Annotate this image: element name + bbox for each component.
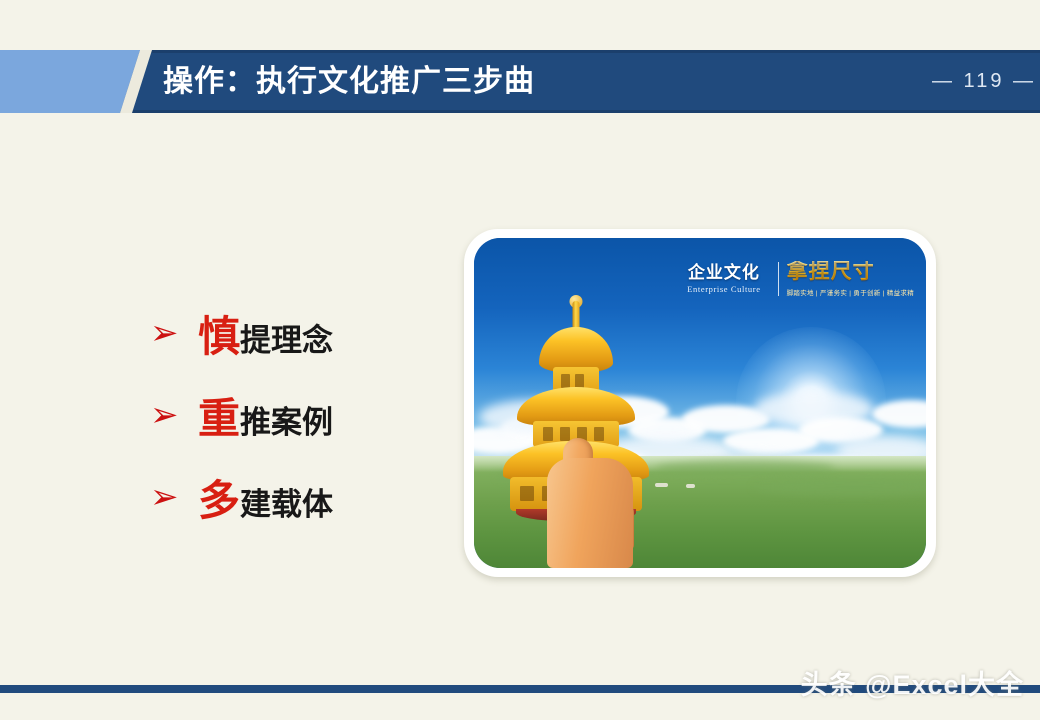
bullet-text: 多建载体 (198, 467, 333, 528)
photo-card[interactable]: 企业文化 Enterprise Culture 拿捏尺寸 脚踏实地 | 严谨务实… (464, 229, 936, 577)
hand-holding-model (537, 390, 657, 568)
banner-brand-block: 企业文化 Enterprise Culture (687, 264, 769, 294)
bullet-rest-text: 提理念 (240, 323, 333, 359)
bullet-text: 慎提理念 (198, 303, 333, 364)
list-item[interactable]: ➢ 多建载体 (150, 456, 450, 538)
banner-slogan-block: 拿捏尺寸 脚踏实地 | 严谨务实 | 勇于创新 | 精益求精 (787, 261, 914, 296)
list-item[interactable]: ➢ 重推案例 (150, 374, 450, 456)
arrow-bullet-icon: ➢ (150, 398, 198, 432)
bullet-text: 重推案例 (198, 385, 333, 446)
bullet-rest-text: 建载体 (240, 487, 333, 523)
slide-header: 操作：执行文化推广三步曲 — 119 — (0, 50, 1040, 113)
banner-subtext: 脚踏实地 | 严谨务实 | 勇于创新 | 精益求精 (787, 287, 914, 297)
bullet-rest-text: 推案例 (240, 405, 333, 441)
banner-brand-en: Enterprise Culture (687, 284, 760, 294)
banner-brand-cn: 企业文化 (688, 264, 760, 282)
page-title: 操作：执行文化推广三步曲 (163, 50, 535, 113)
bullet-lead-char: 重 (198, 394, 240, 443)
bullet-list: ➢ 慎提理念 ➢ 重推案例 ➢ 多建载体 (150, 292, 450, 538)
arrow-bullet-icon: ➢ (150, 480, 198, 514)
bullet-lead-char: 慎 (198, 312, 240, 361)
page-number: — 119 — (932, 50, 1040, 113)
arrow-bullet-icon: ➢ (150, 316, 198, 350)
banner-divider (778, 262, 779, 296)
watermark: 头条 @Excel大全 (801, 663, 1024, 702)
banner-slogan: 拿捏尺寸 (787, 261, 914, 283)
bullet-lead-char: 多 (198, 476, 240, 525)
header-accent-parallelogram (0, 50, 140, 113)
list-item[interactable]: ➢ 慎提理念 (150, 292, 450, 374)
image-banner: 企业文化 Enterprise Culture 拿捏尺寸 脚踏实地 | 严谨务实… (687, 256, 914, 302)
slide-canvas: 操作：执行文化推广三步曲 — 119 — ➢ 慎提理念 ➢ 重推案例 ➢ 多建载… (0, 0, 1040, 720)
photo-image: 企业文化 Enterprise Culture 拿捏尺寸 脚踏实地 | 严谨务实… (474, 238, 926, 568)
